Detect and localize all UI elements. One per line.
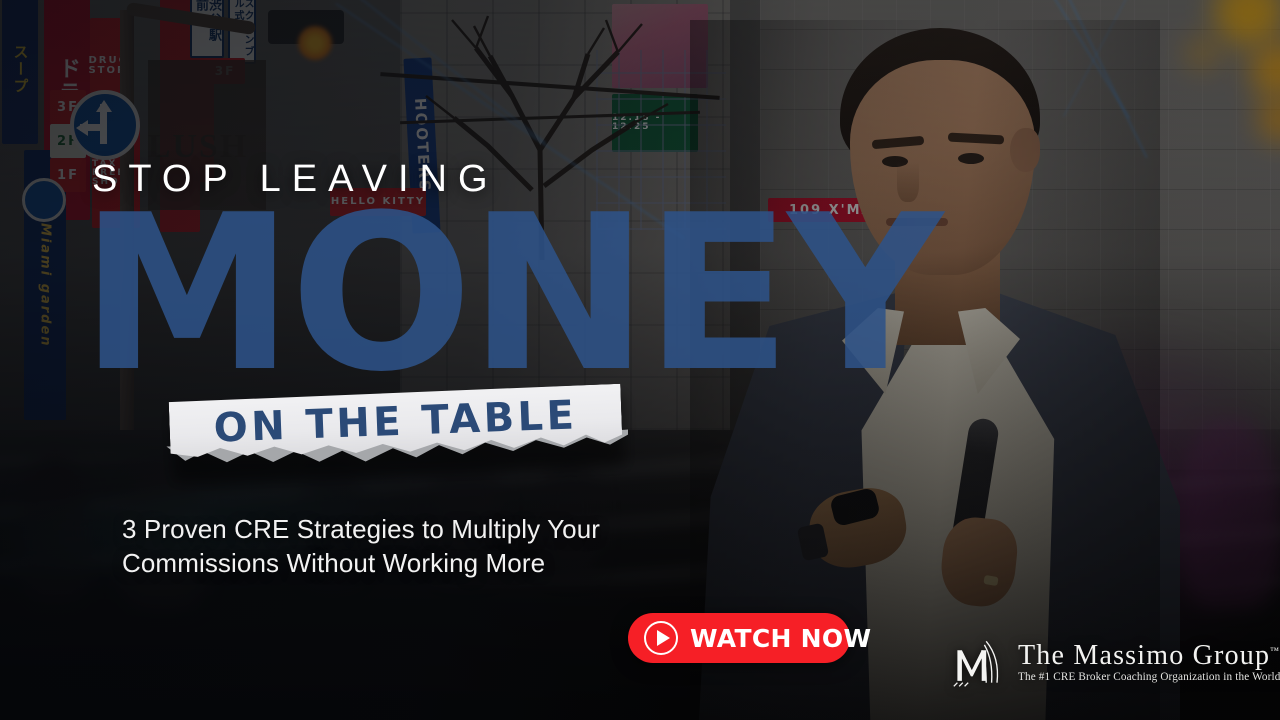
massimo-m-monogram xyxy=(952,634,1006,690)
video-thumbnail: スープ ドラッグ Miami garden DRUG STORE TAX FRE… xyxy=(0,0,1280,720)
play-icon xyxy=(644,621,678,655)
subtitle-line-2: Commissions Without Working More xyxy=(122,546,652,580)
logo-name-massimo: Massimo xyxy=(1073,640,1184,671)
logo-name: The Massimo Group™ xyxy=(1018,641,1280,670)
subtitle-line-1: 3 Proven CRE Strategies to Multiply Your xyxy=(122,512,652,546)
massimo-group-logo: The Massimo Group™ The #1 CRE Broker Coa… xyxy=(952,634,1280,690)
logo-name-the: The xyxy=(1018,640,1065,671)
headline-banner: ON THE TABLE xyxy=(169,384,624,485)
subtitle: 3 Proven CRE Strategies to Multiply Your… xyxy=(122,512,652,581)
watch-now-button[interactable]: WATCH NOW xyxy=(628,613,850,663)
logo-wordmark: The Massimo Group™ The #1 CRE Broker Coa… xyxy=(1018,641,1280,683)
watch-now-label: WATCH NOW xyxy=(690,624,871,653)
headline-main: MONEY xyxy=(80,186,939,401)
logo-tagline: The #1 CRE Broker Coaching Organization … xyxy=(1018,671,1280,683)
logo-trademark: ™ xyxy=(1270,645,1280,655)
logo-name-group: Group xyxy=(1193,640,1271,671)
